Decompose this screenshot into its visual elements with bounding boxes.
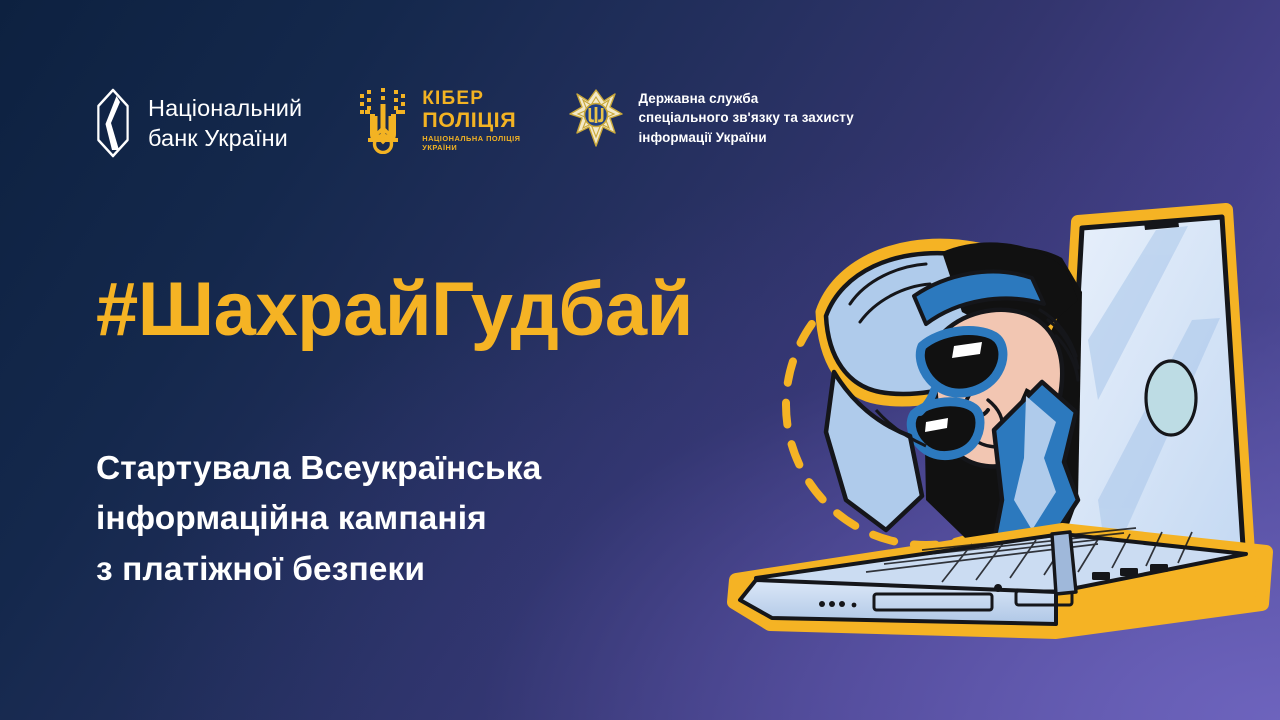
fraudster-character: [822, 242, 1082, 566]
subtitle-line-1: Стартувала Всеукраїнська: [96, 444, 541, 494]
nbu-hryvnia-mark-icon: [92, 88, 134, 158]
logo-state-special-communications-service: Державна служба спеціального зв'язку та …: [568, 88, 853, 148]
cyber-police-line-2: ПОЛІЦІЯ: [422, 109, 520, 131]
logo-national-bank-of-ukraine: Національний банк України: [92, 88, 302, 158]
dsszzi-line-3: інформації України: [638, 128, 853, 147]
partner-logo-bar: Національний банк України: [92, 88, 854, 158]
campaign-subtitle: Стартувала Всеукраїнська інформаційна ка…: [96, 444, 541, 595]
fraudster-laptop-illustration: [726, 200, 1280, 670]
dsszzi-line-2: спеціального зв'язку та захисту: [638, 108, 853, 127]
laptop-keyboard-base: [734, 528, 1266, 632]
nbu-line-2: банк України: [148, 123, 302, 153]
dsszzi-line-1: Державна служба: [638, 89, 853, 108]
campaign-banner: Національний банк України: [0, 0, 1280, 720]
cyber-police-line-1: КІБЕР: [422, 89, 520, 108]
cyber-police-wordmark: КІБЕР ПОЛІЦІЯ НАЦІОНАЛЬНА ПОЛІЦІЯ УКРАЇН…: [422, 89, 520, 153]
laptop-logo-oval: [1146, 361, 1196, 435]
cyber-police-sub-2: УКРАЇНИ: [422, 143, 520, 152]
cyber-police-subline: НАЦІОНАЛЬНА ПОЛІЦІЯ УКРАЇНИ: [422, 134, 520, 153]
nbu-wordmark: Національний банк України: [148, 93, 302, 153]
subtitle-line-2: інформаційна кампанія: [96, 494, 541, 544]
subtitle-line-3: з платіжної безпеки: [96, 545, 541, 595]
logo-cyber-police: КІБЕР ПОЛІЦІЯ НАЦІОНАЛЬНА ПОЛІЦІЯ УКРАЇН…: [356, 88, 520, 154]
dsszzi-wordmark: Державна служба спеціального зв'язку та …: [638, 89, 853, 146]
digital-trident-icon: [356, 88, 410, 154]
cyber-police-sub-1: НАЦІОНАЛЬНА ПОЛІЦІЯ: [422, 134, 520, 143]
maltese-cross-trident-icon: [568, 88, 624, 148]
campaign-hashtag-title: #ШахрайГудбай: [96, 272, 693, 348]
nbu-line-1: Національний: [148, 93, 302, 123]
